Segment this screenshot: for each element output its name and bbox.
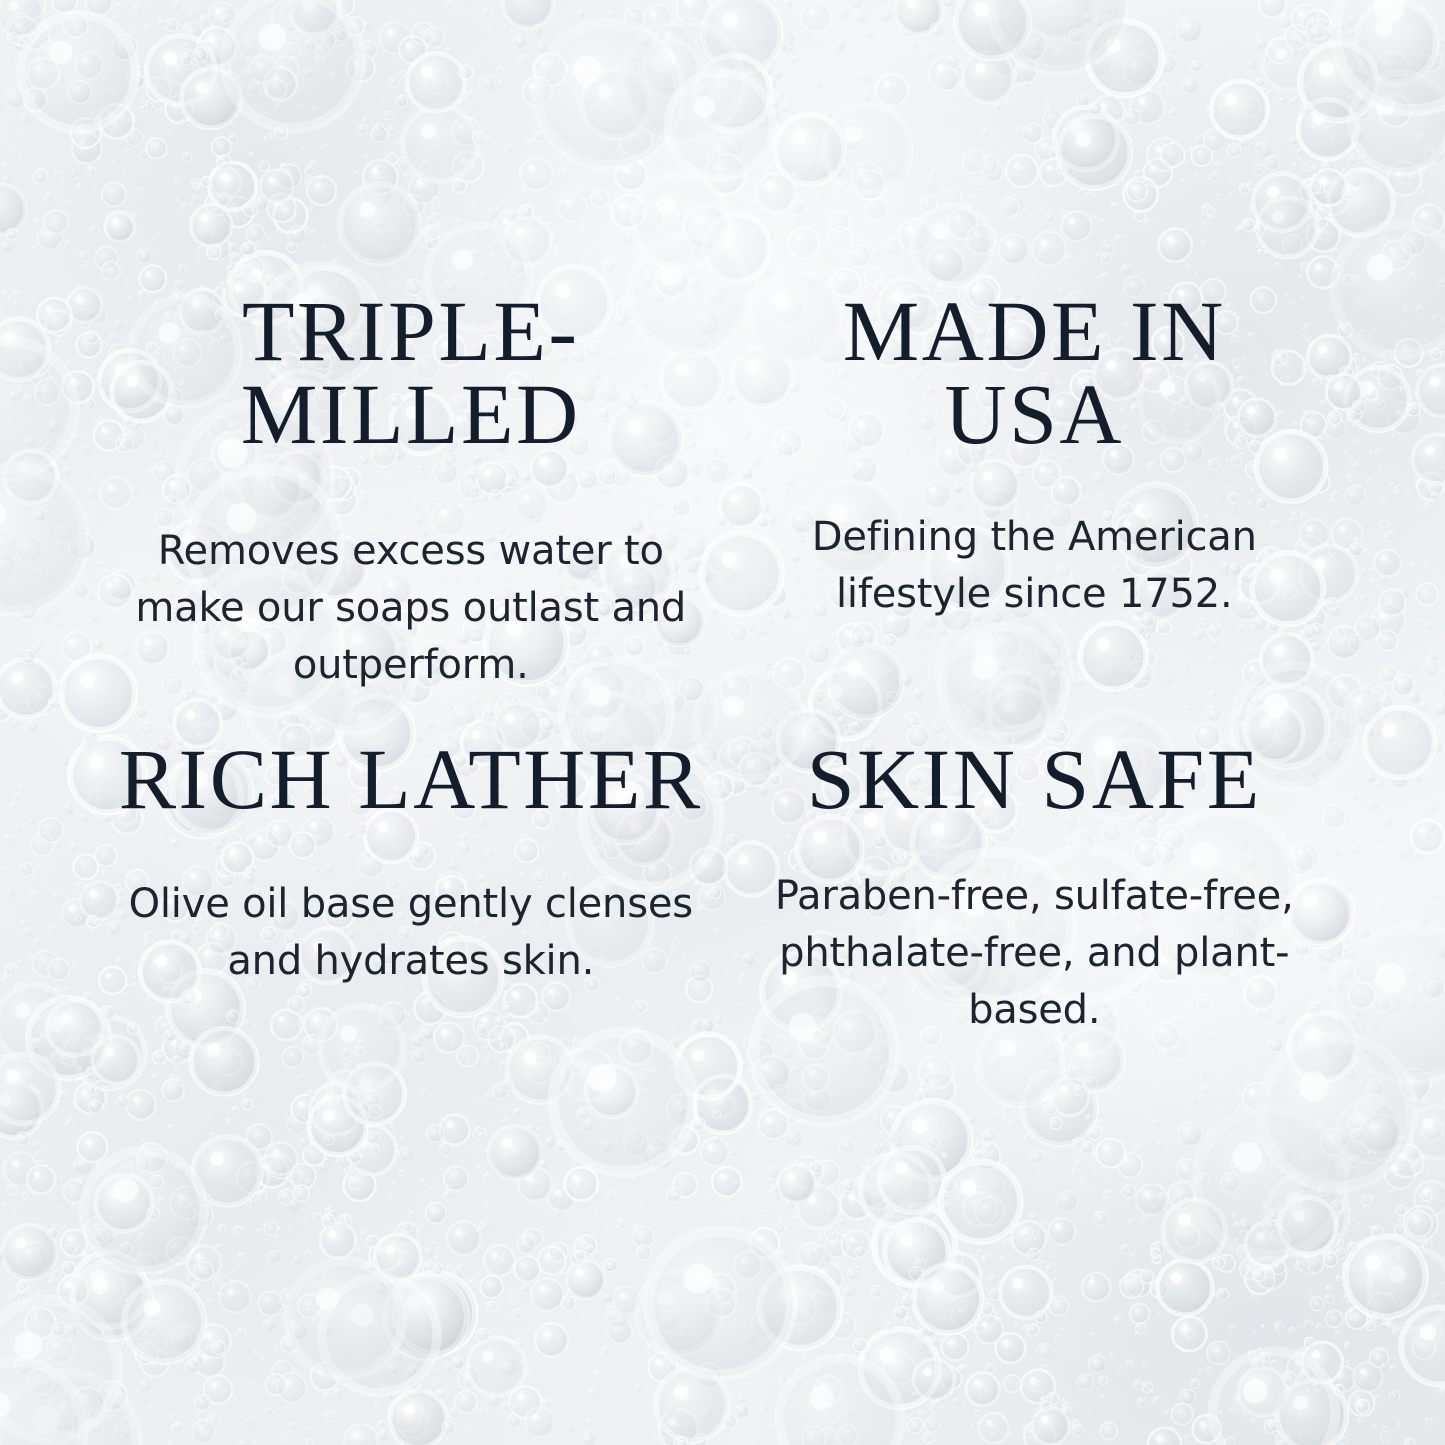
feature-made-in-usa: MADE IN USA Defining the American lifest… [742, 290, 1328, 718]
feature-description-made-in-usa: Defining the American lifestyle since 17… [749, 509, 1319, 623]
feature-description-triple-milled: Removes excess water to make our soaps o… [126, 523, 696, 693]
feature-triple-milled: TRIPLE-MILLED Removes excess water to ma… [118, 290, 704, 718]
feature-description-skin-safe: Paraben-free, sulfate-free, phthalate-fr… [749, 868, 1319, 1038]
feature-title-skin-safe: SKIN SAFE [807, 738, 1262, 821]
feature-rich-lather: RICH LATHER Olive oil base gently clense… [118, 718, 704, 1146]
feature-title-rich-lather: RICH LATHER [119, 738, 703, 821]
feature-title-made-in-usa: MADE IN USA [799, 290, 1269, 455]
feature-skin-safe: SKIN SAFE Paraben-free, sulfate-free, ph… [742, 718, 1328, 1146]
product-benefits-panel: TRIPLE-MILLED Removes excess water to ma… [0, 0, 1445, 1445]
feature-grid: TRIPLE-MILLED Removes excess water to ma… [0, 0, 1445, 1445]
feature-description-rich-lather: Olive oil base gently clenses and hydrat… [126, 876, 696, 990]
feature-title-triple-milled: TRIPLE-MILLED [176, 290, 646, 455]
